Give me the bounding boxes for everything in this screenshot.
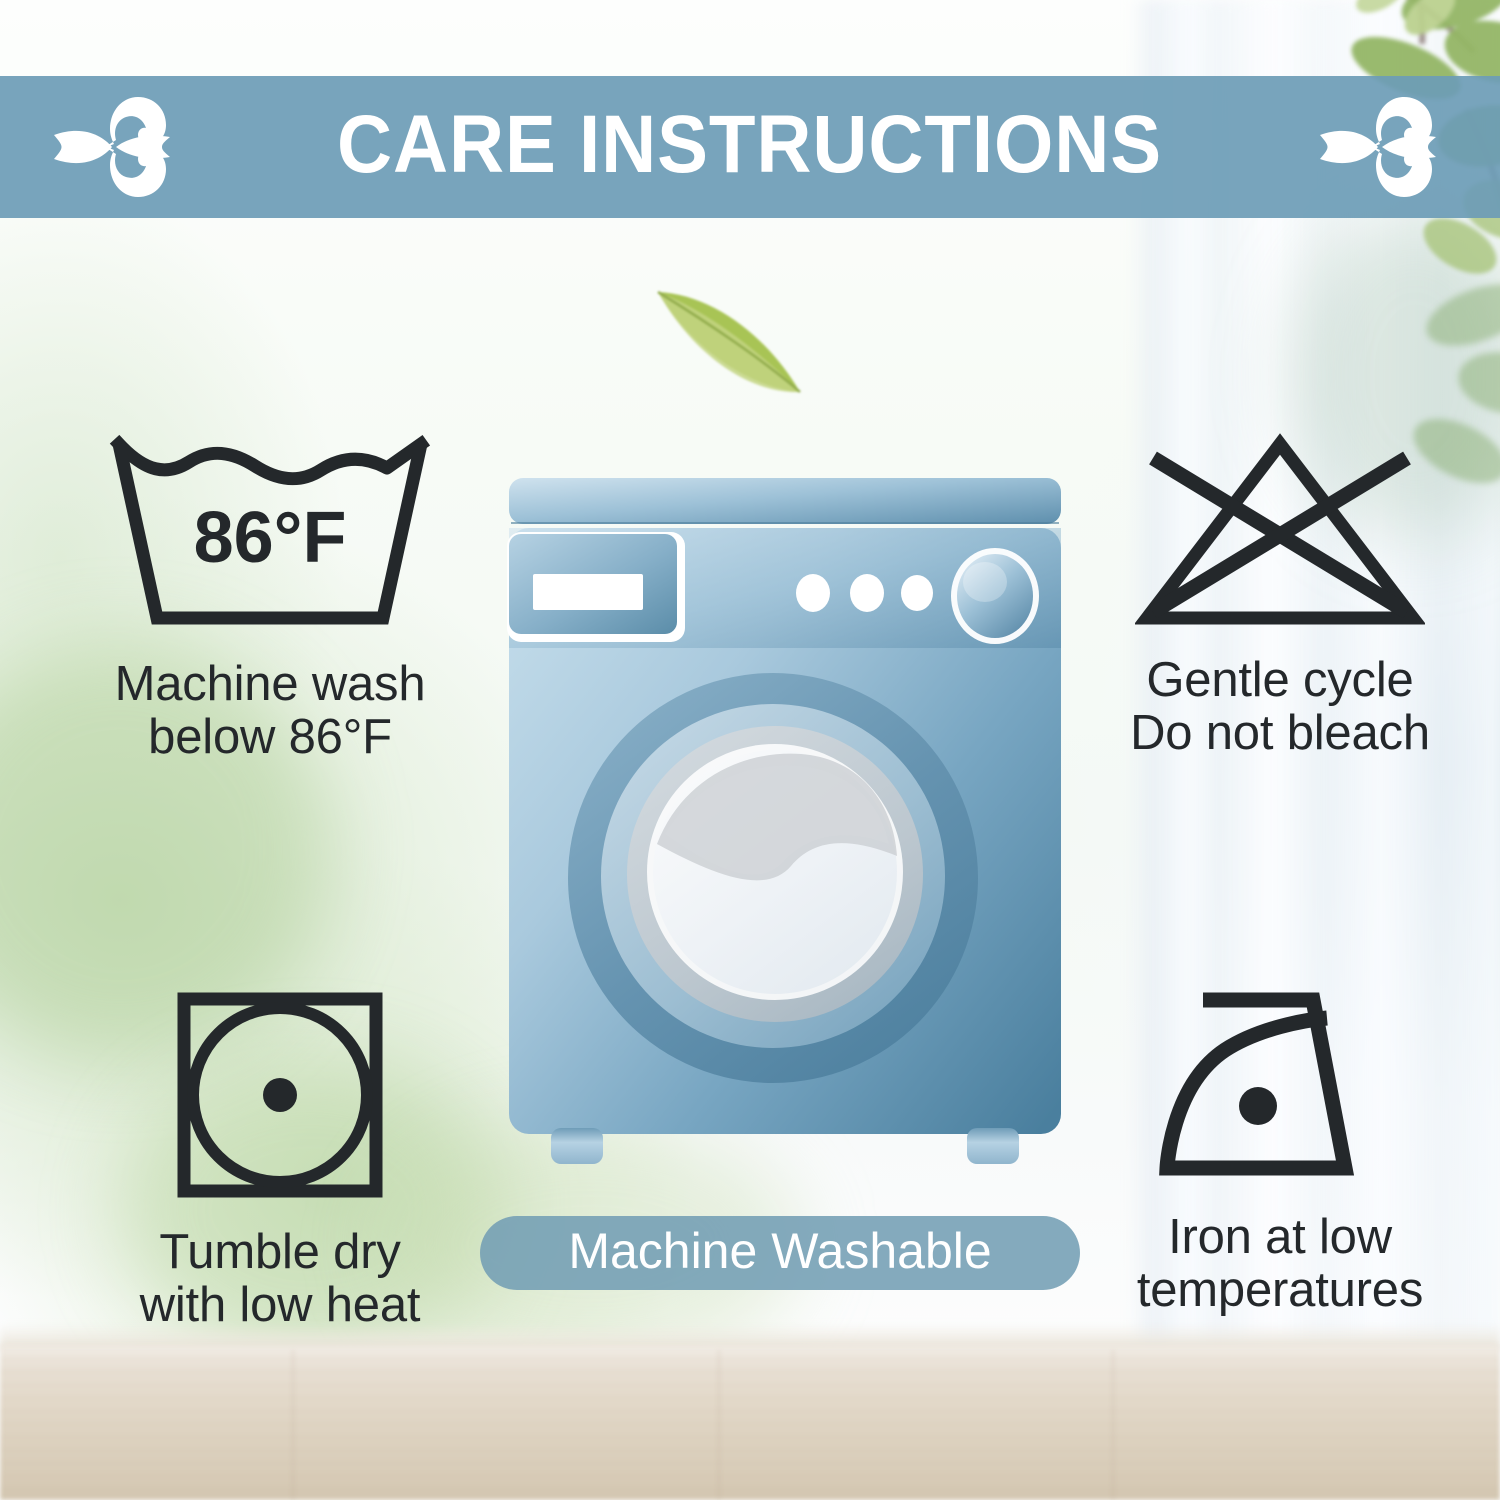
- washer-foot-left: [551, 1128, 603, 1164]
- washer-drawer-slot: [533, 574, 643, 610]
- indicator-light-2: [850, 574, 884, 612]
- washing-machine-illustration: [505, 478, 1065, 1178]
- care-symbol-machine-wash: 86°F Machine wash below 86°F: [60, 432, 480, 764]
- washer-control-knob: [951, 548, 1039, 644]
- care-instructions-page: CARE INSTRUCTIONS 86°F Machine wash belo…: [0, 0, 1500, 1500]
- table-plank-seam-3: [1112, 1350, 1114, 1500]
- tumble-dry-heat-dot: [263, 1078, 297, 1112]
- washer-detergent-drawer: [507, 532, 685, 642]
- washer-indicator-lights: [796, 574, 933, 612]
- wash-tub-icon: 86°F: [105, 432, 435, 632]
- iron-heat-dot: [1239, 1087, 1277, 1125]
- wooden-table-surface: [0, 1345, 1500, 1500]
- washer-foot-right: [967, 1128, 1019, 1164]
- care-symbol-caption-do-not-bleach: Gentle cycle Do not bleach: [1130, 654, 1430, 760]
- fleur-de-lis-icon-left: [42, 91, 192, 203]
- care-symbol-caption-tumble-dry: Tumble dry with low heat: [140, 1226, 421, 1332]
- care-symbol-caption-machine-wash: Machine wash below 86°F: [115, 658, 426, 764]
- care-symbol-caption-iron: Iron at low temperatures: [1137, 1211, 1423, 1317]
- care-symbol-do-not-bleach: Gentle cycle Do not bleach: [1060, 432, 1500, 760]
- page-title: CARE INSTRUCTIONS: [337, 104, 1162, 190]
- iron-icon: [1155, 990, 1405, 1185]
- floating-leaf-icon: [650, 276, 810, 406]
- machine-washable-badge-label: Machine Washable: [568, 1226, 991, 1280]
- tumble-dry-square-circle-icon: [175, 990, 385, 1200]
- table-plank-seam-2: [718, 1350, 720, 1500]
- care-instructions-banner: CARE INSTRUCTIONS: [0, 76, 1500, 218]
- care-symbol-iron: Iron at low temperatures: [1060, 990, 1500, 1317]
- wash-temperature-value: 86°F: [194, 498, 347, 578]
- care-symbol-tumble-dry: Tumble dry with low heat: [70, 990, 490, 1332]
- triangle-crossed-out-icon: [1135, 432, 1425, 632]
- indicator-light-1: [796, 574, 830, 612]
- machine-washable-badge: Machine Washable: [480, 1216, 1080, 1290]
- washer-top-lip: [509, 478, 1061, 524]
- indicator-light-3: [901, 575, 933, 611]
- table-plank-seam-1: [292, 1350, 294, 1500]
- washer-door: [568, 673, 978, 1083]
- fleur-de-lis-icon-right: [1308, 91, 1458, 203]
